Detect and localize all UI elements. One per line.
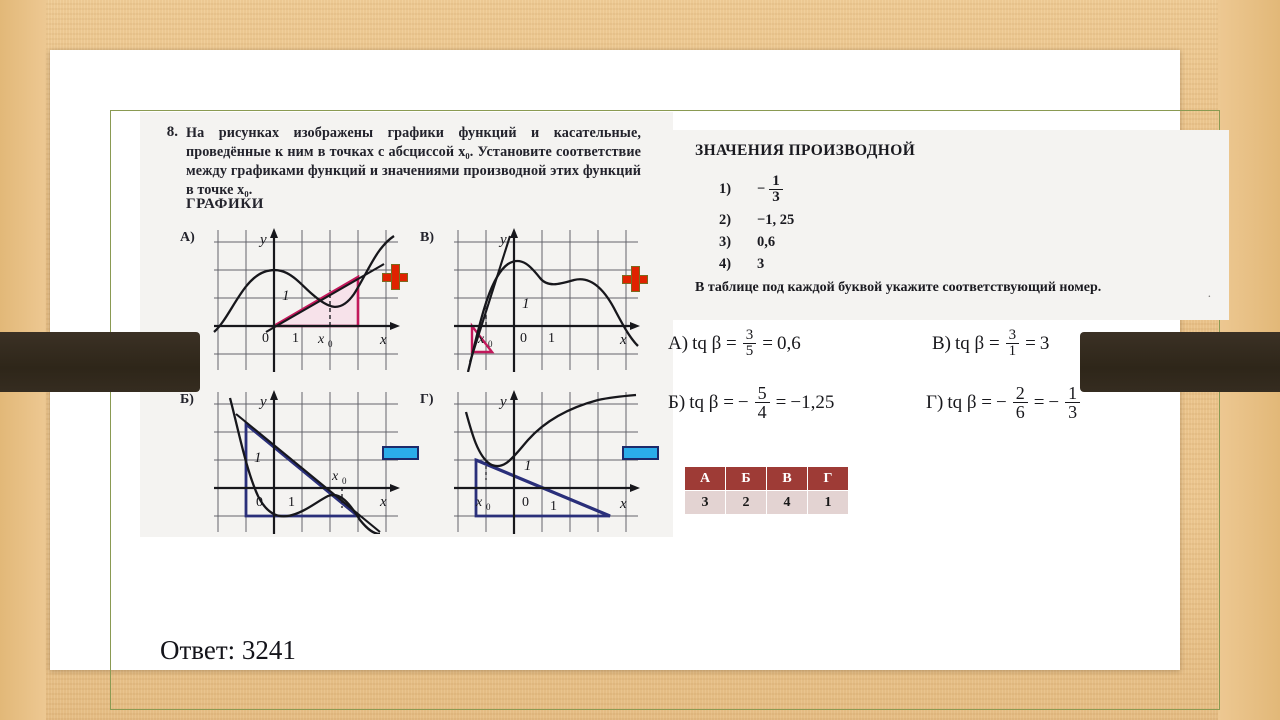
solution-a-eq: = [762,333,773,355]
solution-g-minus: − [996,392,1007,414]
svg-text:x: x [331,469,339,484]
solution-b: Б) tq β = − 5 4 = −1,25 [668,384,834,422]
graph-cell-b: Б) [180,384,410,534]
derivative-item-4: 4) 3 [719,256,764,273]
solution-v-fn: tq β = [955,333,1000,355]
answer-header-g: Г [808,467,849,491]
graph-cell-a: А) [180,222,410,372]
red-plus-marker-v [622,266,648,292]
derivative-index-3: 3) [719,234,739,251]
svg-text:x: x [475,495,483,510]
answer-table-value-row: 3 2 4 1 [685,491,849,515]
svg-text:y: y [258,394,267,410]
svg-text:x: x [379,332,387,348]
solution-v-label: В) [932,333,951,355]
solution-b-fn: tq β = [689,392,734,414]
graph-letter-v: В) [420,230,434,246]
derivative-item-1: 1) − 1 3 [719,174,785,206]
svg-text:y: y [498,394,507,410]
derivative-sign-1: − [757,181,765,198]
solution-a-result: 0,6 [777,333,801,355]
derivative-value-3: 0,6 [757,234,775,251]
derivative-item-3: 3) 0,6 [719,234,775,251]
graph-b-plot: 1 0 1 x 0 x y [208,384,408,534]
answer-value-a: 3 [685,491,726,515]
graph-letter-a: А) [180,230,195,246]
solution-g-fraction: 2 6 [1013,384,1028,422]
cyan-rect-marker-b [382,446,419,460]
graph-v-plot: 1 0 1 x 0 x y [448,222,648,372]
task-statement: На рисунках изображены графики функций и… [186,124,641,200]
svg-text:1: 1 [292,331,299,346]
solution-g-fn: tq β = [947,392,992,414]
svg-text:0: 0 [488,339,493,349]
solution-g-label: Г) [926,392,943,414]
svg-text:x: x [317,332,325,347]
derivative-fraction-1: 1 3 [769,174,783,206]
scan-artifact-dot: . [1208,285,1211,301]
decorative-band-right [1080,332,1280,392]
answer-header-b: Б [726,467,767,491]
derivatives-note: В таблице под каждой буквой укажите соот… [695,280,1101,296]
svg-text:0: 0 [522,495,529,510]
scanned-task-panel-left: 8. На рисунках изображены графики функци… [140,112,673,537]
graph-g-plot: 1 0 1 x 0 x y [448,384,648,534]
answer-value-g: 1 [808,491,849,515]
final-answer: Ответ: 3241 [160,635,296,666]
derivative-value-2: −1, 25 [757,212,794,229]
solution-v-fraction: 3 1 [1006,328,1020,360]
svg-text:1: 1 [524,458,532,474]
solution-a: А) tq β = 3 5 = 0,6 [668,328,801,360]
solution-v-result: 3 [1040,333,1050,355]
derivative-index-2: 2) [719,212,739,229]
svg-text:0: 0 [256,495,263,510]
solution-a-fn: tq β = [692,333,737,355]
svg-text:1: 1 [522,296,530,312]
svg-text:1: 1 [548,331,555,346]
answer-header-v: В [767,467,808,491]
decorative-band-left [0,332,200,392]
cyan-rect-marker-g [622,446,659,460]
answer-table: А Б В Г 3 2 4 1 [684,466,849,515]
answer-value-b: 2 [726,491,767,515]
slide-canvas: 8. На рисунках изображены графики функци… [50,50,1180,670]
svg-text:x: x [619,332,627,348]
graphs-heading: ГРАФИКИ [186,196,264,213]
svg-text:0: 0 [328,339,333,349]
derivative-value-4: 3 [757,256,764,273]
svg-text:0: 0 [486,502,491,512]
solution-b-result: −1,25 [790,392,834,414]
task-number: 8. [140,124,186,200]
svg-text:x: x [379,494,387,510]
answer-value-v: 4 [767,491,808,515]
svg-text:0: 0 [342,476,347,486]
svg-text:1: 1 [550,499,557,514]
svg-text:1: 1 [254,450,262,466]
solution-b-fraction: 5 4 [755,384,770,422]
svg-text:x: x [619,496,627,512]
solution-g-result-minus: − [1048,392,1059,414]
svg-text:y: y [258,232,267,248]
graph-cell-g: Г) [420,384,650,534]
solution-g-result-fraction: 1 3 [1065,384,1080,422]
svg-text:1: 1 [288,495,295,510]
solution-a-fraction: 3 5 [743,328,757,360]
graph-letter-g: Г) [420,392,434,408]
derivative-index-4: 4) [719,256,739,273]
solution-g: Г) tq β = − 2 6 = − 1 3 [926,384,1082,422]
answer-header-a: А [685,467,726,491]
derivatives-title: ЗНАЧЕНИЯ ПРОИЗВОДНОЙ [695,142,915,160]
answer-table-header-row: А Б В Г [685,467,849,491]
derivative-item-2: 2) −1, 25 [719,212,794,229]
svg-text:y: y [498,232,507,248]
solution-v: В) tq β = 3 1 = 3 [932,328,1049,360]
solution-g-eq: = [1034,392,1045,414]
solution-v-eq: = [1025,333,1036,355]
solution-b-label: Б) [668,392,685,414]
solution-b-eq: = [776,392,787,414]
task-header: 8. На рисунках изображены графики функци… [140,124,673,200]
svg-text:1: 1 [282,288,290,304]
svg-text:x: x [477,332,485,347]
solution-b-minus: − [738,392,749,414]
graph-a-plot: 1 0 1 x 0 x y [208,222,408,372]
svg-text:0: 0 [262,331,269,346]
scanned-values-panel: ЗНАЧЕНИЯ ПРОИЗВОДНОЙ 1) − 1 3 2) −1, 25 … [673,130,1229,320]
red-plus-marker-a [382,264,408,290]
derivative-index-1: 1) [719,181,739,198]
graph-cell-v: В) [420,222,650,372]
svg-text:0: 0 [520,331,527,346]
solution-a-label: А) [668,333,688,355]
graph-letter-b: Б) [180,392,194,408]
